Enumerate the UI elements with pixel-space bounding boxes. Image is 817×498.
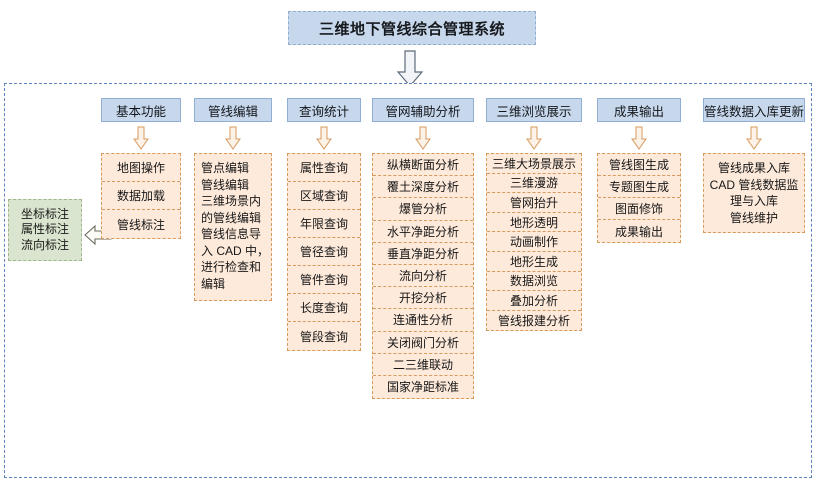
list-item[interactable]: 管线图生成 xyxy=(598,154,680,176)
text-line: 三维场景内 xyxy=(201,193,266,210)
annotation-box: 坐标标注 属性标注 流向标注 xyxy=(8,199,82,261)
list-item[interactable]: 管径查询 xyxy=(288,238,360,266)
text-line: 管线信息导 xyxy=(201,226,266,243)
arrow-down-icon xyxy=(746,126,762,150)
list-item[interactable]: 垂直净距分析 xyxy=(373,243,473,265)
feature-list-1: 地图操作数据加载管线标注 xyxy=(101,153,181,239)
list-item[interactable]: 地图操作 xyxy=(102,154,180,182)
column-header-2[interactable]: 管线编辑 xyxy=(194,98,272,122)
list-item[interactable]: 专题图生成 xyxy=(598,176,680,198)
list-item[interactable]: 动画制作 xyxy=(487,232,581,252)
text-line: 管点编辑 xyxy=(201,160,266,177)
list-item[interactable]: 管线标注 xyxy=(102,210,180,238)
text-line: 进行检查和 xyxy=(201,259,266,276)
page-title: 三维地下管线综合管理系统 xyxy=(288,11,536,45)
arrow-down-icon xyxy=(133,126,149,150)
module-column-1: 基本功能地图操作数据加载管线标注 xyxy=(101,98,181,239)
text-line: 编辑 xyxy=(201,276,266,293)
list-item[interactable]: 地形透明 xyxy=(487,213,581,233)
text-line: 管线成果入库 xyxy=(708,160,800,177)
feature-list-4: 纵横断面分析覆土深度分析爆管分析水平净距分析垂直净距分析流向分析开挖分析连通性分… xyxy=(372,153,474,399)
text-line: 管线编辑 xyxy=(201,177,266,194)
list-item[interactable]: 开挖分析 xyxy=(373,287,473,309)
feature-list-6: 管线图生成专题图生成图面修饰成果输出 xyxy=(597,153,681,243)
list-item[interactable]: 国家净距标准 xyxy=(373,376,473,398)
list-item[interactable]: 管段查询 xyxy=(288,322,360,350)
list-item[interactable]: 覆土深度分析 xyxy=(373,176,473,198)
module-column-6: 成果输出管线图生成专题图生成图面修饰成果输出 xyxy=(597,98,681,243)
list-item[interactable]: 年限查询 xyxy=(288,210,360,238)
column-header-7[interactable]: 管线数据入库更新 xyxy=(703,98,805,122)
text-line: 的管线编辑 xyxy=(201,210,266,227)
list-item[interactable]: 纵横断面分析 xyxy=(373,154,473,176)
annotation-line-3: 流向标注 xyxy=(21,238,69,253)
list-item[interactable]: 关闭阀门分析 xyxy=(373,332,473,354)
module-column-4: 管网辅助分析纵横断面分析覆土深度分析爆管分析水平净距分析垂直净距分析流向分析开挖… xyxy=(372,98,474,399)
list-item[interactable]: 地形生成 xyxy=(487,252,581,272)
column-header-4[interactable]: 管网辅助分析 xyxy=(372,98,474,122)
feature-list-3: 属性查询区域查询年限查询管径查询管件查询长度查询管段查询 xyxy=(287,153,361,351)
list-item[interactable]: 数据浏览 xyxy=(487,272,581,292)
column-header-5[interactable]: 三维浏览展示 xyxy=(486,98,582,122)
list-item[interactable]: 属性查询 xyxy=(288,154,360,182)
list-item[interactable]: 数据加载 xyxy=(102,182,180,210)
column-header-1[interactable]: 基本功能 xyxy=(101,98,181,122)
column-header-3[interactable]: 查询统计 xyxy=(287,98,361,122)
feature-text-block-7[interactable]: 管线成果入库CAD 管线数据监理与入库管线维护 xyxy=(703,153,805,233)
text-line: 入 CAD 中， xyxy=(201,243,266,260)
module-column-2: 管线编辑管点编辑管线编辑三维场景内的管线编辑管线信息导入 CAD 中，进行检查和… xyxy=(194,98,272,301)
list-item[interactable]: 爆管分析 xyxy=(373,198,473,220)
text-line: CAD 管线数据监 xyxy=(708,177,800,194)
arrow-down-icon xyxy=(631,126,647,150)
list-item[interactable]: 长度查询 xyxy=(288,294,360,322)
module-column-5: 三维浏览展示三维大场景展示三维漫游管网抬升地形透明动画制作地形生成数据浏览叠加分… xyxy=(486,98,582,331)
list-item[interactable]: 区域查询 xyxy=(288,182,360,210)
feature-text-block-2[interactable]: 管点编辑管线编辑三维场景内的管线编辑管线信息导入 CAD 中，进行检查和编辑 xyxy=(194,153,272,301)
list-item[interactable]: 三维大场景展示 xyxy=(487,154,581,174)
module-column-3: 查询统计属性查询区域查询年限查询管径查询管件查询长度查询管段查询 xyxy=(287,98,361,351)
text-line: 管线维护 xyxy=(708,210,800,227)
flowchart-diagram: 三维地下管线综合管理系统 坐标标注 属性标注 流向标注 基本功能地图操作数据加载… xyxy=(0,0,817,498)
module-column-7: 管线数据入库更新管线成果入库CAD 管线数据监理与入库管线维护 xyxy=(703,98,805,233)
list-item[interactable]: 管网抬升 xyxy=(487,193,581,213)
list-item[interactable]: 水平净距分析 xyxy=(373,221,473,243)
list-item[interactable]: 连通性分析 xyxy=(373,309,473,331)
arrow-down-icon xyxy=(415,126,431,150)
list-item[interactable]: 流向分析 xyxy=(373,265,473,287)
column-header-6[interactable]: 成果输出 xyxy=(597,98,681,122)
text-line: 理与入库 xyxy=(708,193,800,210)
arrow-down-icon xyxy=(526,126,542,150)
arrow-down-icon xyxy=(225,126,241,150)
feature-list-5: 三维大场景展示三维漫游管网抬升地形透明动画制作地形生成数据浏览叠加分析管线报建分… xyxy=(486,153,582,331)
list-item[interactable]: 成果输出 xyxy=(598,220,680,242)
list-item[interactable]: 管线报建分析 xyxy=(487,311,581,331)
list-item[interactable]: 二三维联动 xyxy=(373,354,473,376)
annotation-line-1: 坐标标注 xyxy=(21,207,69,222)
list-item[interactable]: 三维漫游 xyxy=(487,174,581,194)
list-item[interactable]: 叠加分析 xyxy=(487,291,581,311)
arrow-down-icon xyxy=(316,126,332,150)
list-item[interactable]: 图面修饰 xyxy=(598,198,680,220)
list-item[interactable]: 管件查询 xyxy=(288,266,360,294)
annotation-line-2: 属性标注 xyxy=(21,222,69,237)
